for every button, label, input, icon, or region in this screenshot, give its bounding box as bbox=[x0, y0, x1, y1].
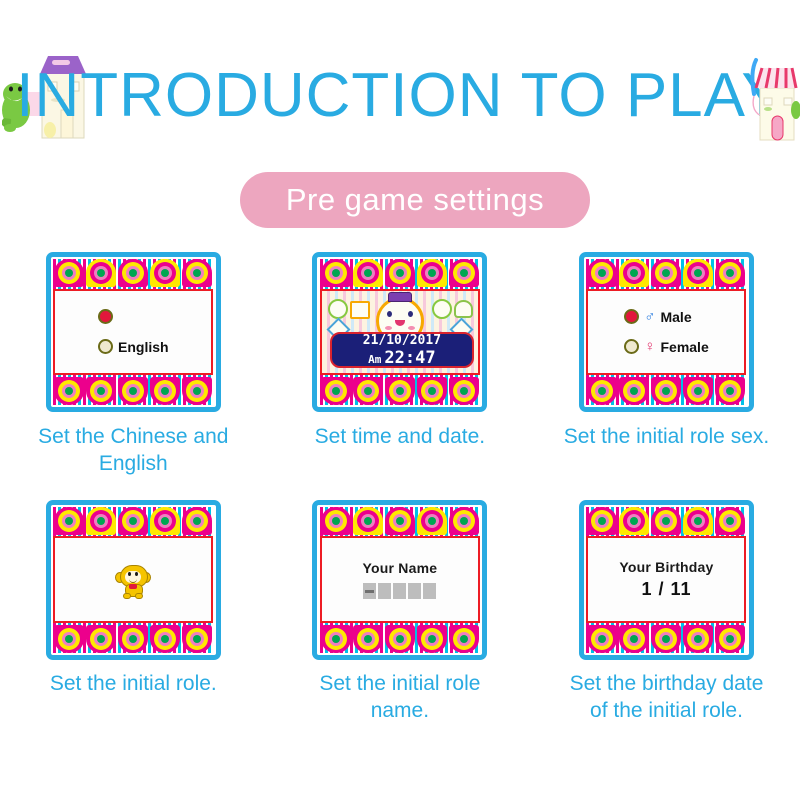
name-slot[interactable] bbox=[378, 583, 391, 599]
lcd-date: 21/10/2017 bbox=[363, 334, 441, 347]
card-caption: Set the initial role name. bbox=[292, 671, 507, 725]
device-decoration-bottom bbox=[320, 623, 480, 653]
device-decoration-top bbox=[53, 507, 213, 537]
wall-clock-round-icon bbox=[432, 299, 452, 319]
clock-screen[interactable]: 21/10/2017 Am 22:47 bbox=[320, 289, 480, 376]
card-caption: Set the initial role. bbox=[26, 671, 241, 698]
device-frame[interactable]: ♂ Male ♀ Female bbox=[579, 252, 754, 412]
radio-unselected-icon[interactable] bbox=[624, 339, 639, 354]
sex-screen[interactable]: ♂ Male ♀ Female bbox=[586, 289, 746, 376]
role-screen[interactable] bbox=[53, 536, 213, 623]
name-entry-slots[interactable] bbox=[363, 583, 436, 599]
yellow-monkey-character-icon bbox=[116, 563, 150, 597]
page-title: INTRODUCTION TO PLAY bbox=[0, 40, 800, 150]
clock-character-eyes bbox=[387, 311, 413, 317]
card-row-bottom: Set the initial role. Your Name bbox=[0, 500, 800, 725]
settings-card-grid: English Set the Chinese and English bbox=[0, 252, 800, 725]
name-entry-title: Your Name bbox=[363, 560, 438, 576]
lcd-ampm: Am bbox=[368, 354, 381, 365]
card-role-name: Your Name bbox=[267, 500, 534, 725]
radio-selected-icon[interactable] bbox=[624, 309, 639, 324]
sex-option-male-label: Male bbox=[660, 309, 691, 325]
name-slot[interactable] bbox=[423, 583, 436, 599]
card-caption: Set the birthday date of the initial rol… bbox=[559, 671, 774, 725]
sex-option-female[interactable]: ♀ Female bbox=[624, 335, 709, 359]
male-symbol-icon: ♂ bbox=[644, 308, 655, 325]
device-decoration-top bbox=[53, 259, 213, 289]
house-decoration-icon bbox=[742, 54, 800, 148]
device-frame[interactable] bbox=[46, 500, 221, 660]
female-symbol-icon: ♀ bbox=[644, 338, 655, 355]
card-role: Set the initial role. bbox=[0, 500, 267, 725]
wall-clock-square-icon bbox=[350, 301, 370, 319]
name-slot[interactable] bbox=[393, 583, 406, 599]
card-sex: ♂ Male ♀ Female bbox=[533, 252, 800, 478]
device-decoration-top bbox=[586, 507, 746, 537]
name-slot[interactable] bbox=[363, 583, 376, 599]
device-decoration-top bbox=[320, 259, 480, 289]
name-slot[interactable] bbox=[408, 583, 421, 599]
language-option-list: English bbox=[98, 305, 169, 359]
radio-unselected-icon[interactable] bbox=[98, 339, 113, 354]
card-time-date: 21/10/2017 Am 22:47 bbox=[267, 252, 534, 478]
language-option-english-label: English bbox=[118, 339, 169, 355]
device-decoration-bottom bbox=[320, 375, 480, 405]
device-decoration-bottom bbox=[53, 375, 213, 405]
radio-selected-icon[interactable] bbox=[98, 309, 113, 324]
card-language: English Set the Chinese and English bbox=[0, 252, 267, 478]
wall-clock-heart-icon bbox=[454, 300, 473, 318]
birthday-screen[interactable]: Your Birthday 1 / 11 bbox=[586, 536, 746, 623]
lcd-time: Am 22:47 bbox=[368, 350, 435, 367]
name-entry-screen[interactable]: Your Name bbox=[320, 536, 480, 623]
language-option-chinese[interactable] bbox=[98, 305, 169, 329]
sex-option-female-label: Female bbox=[660, 339, 708, 355]
device-frame[interactable]: Your Name bbox=[312, 500, 487, 660]
card-caption: Set the Chinese and English bbox=[26, 424, 241, 478]
sex-option-list: ♂ Male ♀ Female bbox=[624, 305, 709, 359]
sex-option-male[interactable]: ♂ Male bbox=[624, 305, 709, 329]
clock-character-hat bbox=[388, 292, 412, 302]
page-header: INTRODUCTION TO PLAY bbox=[0, 40, 800, 150]
device-decoration-bottom bbox=[53, 623, 213, 653]
device-frame[interactable]: English bbox=[46, 252, 221, 412]
language-screen[interactable]: English bbox=[53, 289, 213, 376]
wall-clock-round-icon bbox=[328, 299, 348, 319]
device-decoration-bottom bbox=[586, 375, 746, 405]
card-caption: Set time and date. bbox=[292, 424, 507, 451]
birthday-title: Your Birthday bbox=[619, 559, 713, 575]
card-caption: Set the initial role sex. bbox=[559, 424, 774, 451]
lcd-clock: 22:47 bbox=[384, 350, 435, 367]
banner-label: Pre game settings bbox=[286, 182, 544, 218]
pre-game-settings-banner: Pre game settings bbox=[240, 172, 590, 228]
device-frame[interactable]: 21/10/2017 Am 22:47 bbox=[312, 252, 487, 412]
device-decoration-top bbox=[586, 259, 746, 289]
device-frame[interactable]: Your Birthday 1 / 11 bbox=[579, 500, 754, 660]
birthday-value[interactable]: 1 / 11 bbox=[641, 579, 691, 600]
lcd-display[interactable]: 21/10/2017 Am 22:47 bbox=[330, 332, 474, 368]
language-option-english[interactable]: English bbox=[98, 335, 169, 359]
card-birthday: Your Birthday 1 / 11 Set the birthday da… bbox=[533, 500, 800, 725]
device-decoration-top bbox=[320, 507, 480, 537]
card-row-top: English Set the Chinese and English bbox=[0, 252, 800, 478]
device-decoration-bottom bbox=[586, 623, 746, 653]
